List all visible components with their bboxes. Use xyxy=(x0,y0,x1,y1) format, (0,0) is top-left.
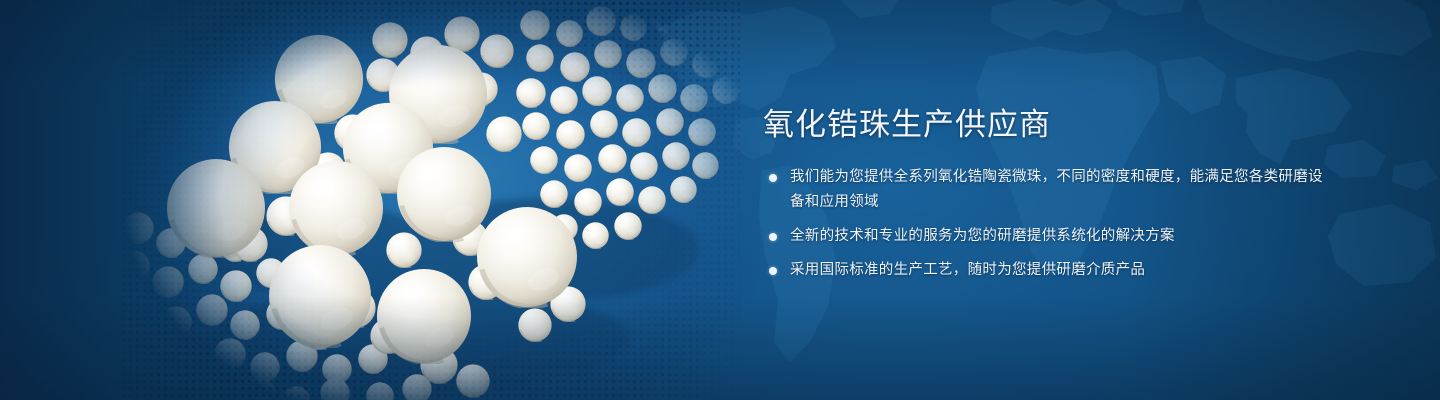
feature-list-item: 我们能为您提供全系列氧化锆陶瓷微珠，不同的密度和硬度，能满足您各类研磨设备和应用… xyxy=(763,165,1323,215)
feature-list-item-text: 采用国际标准的生产工艺，随时为您提供研磨介质产品 xyxy=(790,262,1145,278)
feature-list-item: 全新的技术和专业的服务为您的研磨提供系统化的解决方案 xyxy=(763,224,1323,249)
feature-list-item: 采用国际标准的生产工艺，随时为您提供研磨介质产品 xyxy=(763,258,1323,283)
bullet-dot-icon xyxy=(769,174,777,182)
bullet-dot-icon xyxy=(769,267,777,275)
banner-copy: 氧化锆珠生产供应商 我们能为您提供全系列氧化锆陶瓷微珠，不同的密度和硬度，能满足… xyxy=(763,104,1323,283)
feature-list-item-text: 全新的技术和专业的服务为您的研磨提供系统化的解决方案 xyxy=(790,228,1175,244)
feature-list-item-text: 我们能为您提供全系列氧化锆陶瓷微珠，不同的密度和硬度，能满足您各类研磨设备和应用… xyxy=(790,169,1323,210)
banner-headline: 氧化锆珠生产供应商 xyxy=(763,104,1323,146)
feature-list: 我们能为您提供全系列氧化锆陶瓷微珠，不同的密度和硬度，能满足您各类研磨设备和应用… xyxy=(763,165,1323,283)
hero-banner: 氧化锆珠生产供应商 我们能为您提供全系列氧化锆陶瓷微珠，不同的密度和硬度，能满足… xyxy=(0,0,1440,400)
bullet-dot-icon xyxy=(769,233,777,241)
